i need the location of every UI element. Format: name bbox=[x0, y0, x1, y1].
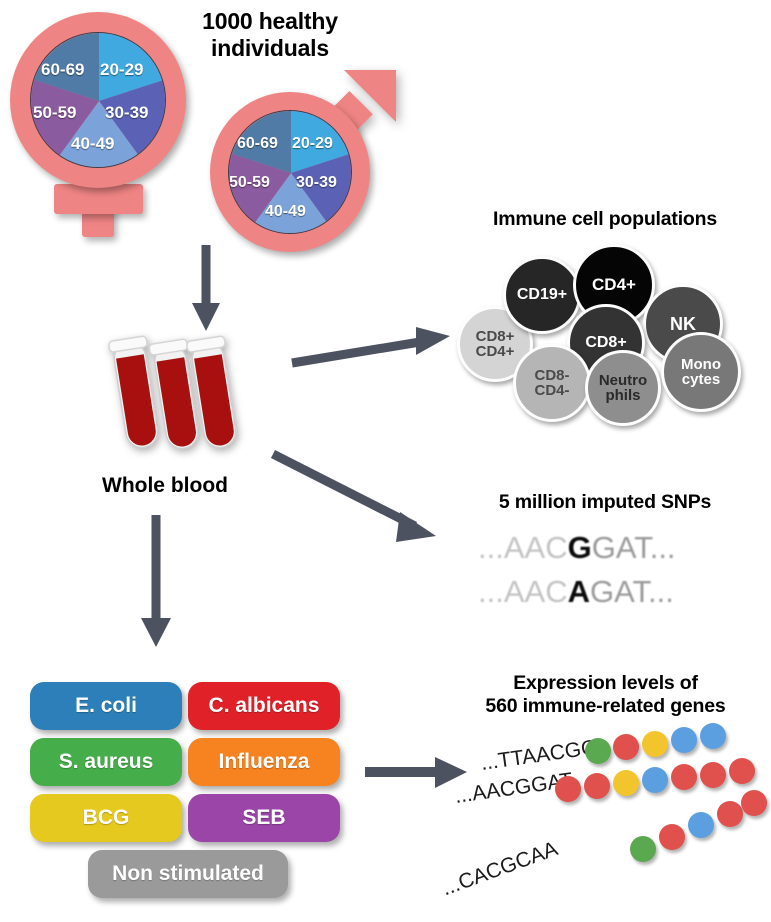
immune-cell-monocytes: Monocytes bbox=[661, 332, 741, 412]
male-symbol: 60-69 20-29 50-59 30-39 40-49 bbox=[210, 70, 400, 260]
stimulus-e-coli[interactable]: E. coli bbox=[30, 682, 182, 730]
stimulus-label: BCG bbox=[83, 806, 130, 830]
cell-line-2: cytes bbox=[682, 371, 720, 388]
cell-label: NK bbox=[670, 315, 696, 333]
stimulus-label: E. coli bbox=[75, 694, 137, 718]
female-symbol: 60-69 20-29 50-59 30-39 40-49 bbox=[10, 12, 195, 242]
pie-label-30-39: 30-39 bbox=[105, 103, 148, 123]
expression-bead bbox=[659, 824, 685, 850]
snp-prefix: ...AAC bbox=[478, 530, 568, 565]
pie-label-60-69: 60-69 bbox=[41, 60, 84, 80]
expression-bead bbox=[613, 734, 639, 760]
mars-age-pie: 60-69 20-29 50-59 30-39 40-49 bbox=[228, 110, 352, 234]
expression-bead bbox=[671, 764, 697, 790]
immune-cell-cd19pos: CD19+ bbox=[503, 256, 581, 334]
arrow-blood-to-snps bbox=[270, 450, 450, 550]
whole-blood-label: Whole blood bbox=[60, 474, 270, 498]
pie-label-60-69: 60-69 bbox=[237, 135, 278, 153]
snp-suffix: GAT... bbox=[590, 574, 674, 609]
stimulus-label: SEB bbox=[242, 806, 285, 830]
snp-row-2: ...AACAGAT... bbox=[478, 574, 674, 610]
pie-label-50-59: 50-59 bbox=[229, 174, 270, 192]
expression-bead bbox=[700, 762, 726, 788]
snp-suffix: GAT... bbox=[592, 530, 676, 565]
immune-cell-neutrophils: Neutrophils bbox=[585, 350, 661, 426]
expression-bead bbox=[585, 738, 611, 764]
expression-bead bbox=[630, 836, 656, 862]
immune-section-title: Immune cell populations bbox=[440, 208, 770, 231]
page-title: 1000 healthy individuals bbox=[170, 8, 370, 62]
expression-bead bbox=[717, 801, 743, 827]
cell-line-2: CD4- bbox=[534, 382, 569, 399]
expression-bead bbox=[671, 727, 697, 753]
venus-age-pie: 60-69 20-29 50-59 30-39 40-49 bbox=[30, 32, 166, 168]
snp-prefix: ...AAC bbox=[478, 574, 568, 609]
expression-title-line-1: Expression levels of bbox=[443, 672, 768, 695]
title-line-2: individuals bbox=[170, 35, 370, 62]
expression-bead bbox=[642, 731, 668, 757]
strand-sequence: ...CACGCAA bbox=[439, 837, 561, 901]
strand-sequence: ...TTAACGG bbox=[479, 736, 599, 776]
stimulus-seb[interactable]: SEB bbox=[188, 794, 340, 842]
title-line-1: 1000 healthy bbox=[170, 8, 370, 35]
snp-variant: A bbox=[568, 574, 590, 609]
cell-label: CD19+ bbox=[517, 287, 567, 303]
expression-bead bbox=[642, 767, 668, 793]
stimulus-non-stimulated[interactable]: Non stimulated bbox=[88, 850, 288, 898]
pie-label-20-29: 20-29 bbox=[292, 135, 333, 153]
arrow-blood-to-stimuli bbox=[136, 515, 176, 650]
venus-stem-horizontal bbox=[54, 184, 143, 214]
snps-section-title: 5 million imputed SNPs bbox=[440, 491, 770, 514]
expression-strands: ...TTAACGG ...AACGGAT ...CACGCAA bbox=[455, 710, 771, 915]
pie-label-30-39: 30-39 bbox=[296, 174, 337, 192]
snp-row-1: ...AACGGAT... bbox=[478, 530, 676, 566]
blood-tubes bbox=[108, 330, 248, 465]
expression-bead bbox=[688, 812, 714, 838]
expression-bead bbox=[741, 790, 767, 816]
stimulus-s-aureus[interactable]: S. aureus bbox=[30, 738, 182, 786]
cell-line-2: CD4+ bbox=[476, 343, 515, 360]
expression-bead bbox=[700, 723, 726, 749]
pie-label-50-59: 50-59 bbox=[33, 103, 76, 123]
arrow-cohort-to-blood bbox=[186, 245, 226, 335]
figure-canvas: 1000 healthy individuals 60-69 20-29 50-… bbox=[0, 0, 771, 922]
pie-label-40-49: 40-49 bbox=[265, 203, 306, 221]
expression-bead bbox=[584, 773, 610, 799]
stimulus-label: C. albicans bbox=[209, 694, 320, 718]
stimulus-bcg[interactable]: BCG bbox=[30, 794, 182, 842]
stimulus-label: Influenza bbox=[218, 750, 309, 774]
expression-bead bbox=[613, 770, 639, 796]
blood-tubes-svg bbox=[108, 330, 248, 465]
pie-label-20-29: 20-29 bbox=[100, 60, 143, 80]
immune-cell-cd8neg-cd4neg: CD8-CD4- bbox=[513, 344, 591, 422]
stimulus-influenza[interactable]: Influenza bbox=[188, 738, 340, 786]
cell-label: CD4+ bbox=[592, 276, 636, 293]
expression-bead bbox=[729, 758, 755, 784]
stimuli-panel: E. coli C. albicans S. aureus Influenza … bbox=[30, 682, 350, 897]
expression-bead bbox=[555, 776, 581, 802]
stimulus-label: S. aureus bbox=[59, 750, 154, 774]
cell-label: CD8+ bbox=[585, 335, 626, 351]
snp-sequences: ...AACGGAT... ...AACAGAT... bbox=[470, 530, 760, 620]
cell-line-2: phils bbox=[605, 387, 640, 404]
arrow-blood-to-immune bbox=[290, 325, 460, 375]
stimulus-label: Non stimulated bbox=[112, 862, 264, 886]
stimulus-c-albicans[interactable]: C. albicans bbox=[188, 682, 340, 730]
snp-variant: G bbox=[568, 530, 592, 565]
immune-cell-cluster: CD8+CD4+ CD19+ CD4+ NK CD8+ CD8-CD4- Neu… bbox=[455, 240, 765, 420]
pie-label-40-49: 40-49 bbox=[71, 134, 114, 154]
